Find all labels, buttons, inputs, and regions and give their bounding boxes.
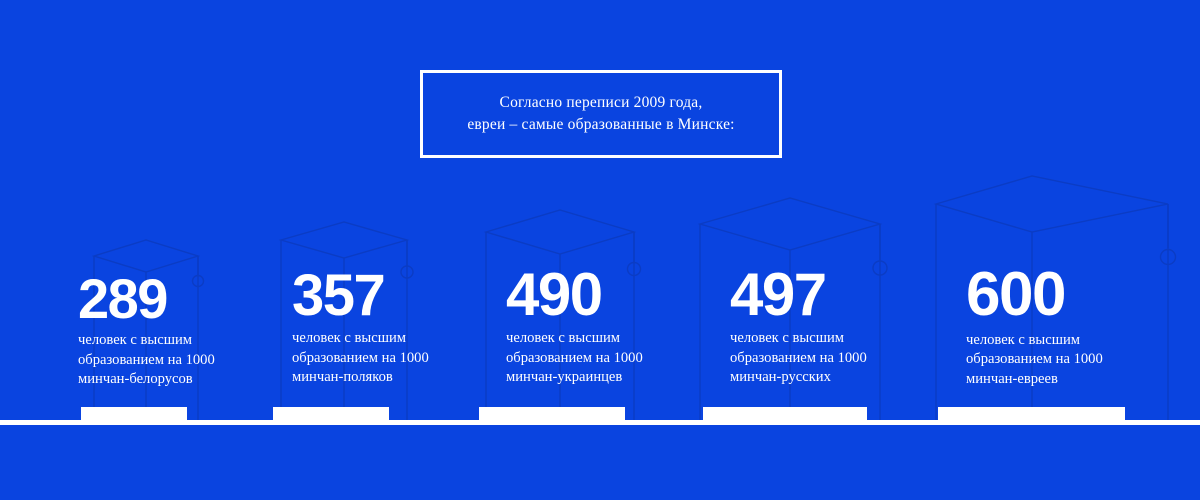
stat-caption-line-2: образованием на 1000 <box>730 349 867 369</box>
stat-caption-line-2: образованием на 1000 <box>78 351 215 371</box>
pedestal-5 <box>938 407 1125 420</box>
stat-value-2: 357 <box>292 268 429 323</box>
stat-column-3: 490 человек с высшим образованием на 100… <box>506 266 643 388</box>
stat-value-4: 497 <box>730 266 867 323</box>
stat-caption-line-3: минчан-украинцев <box>506 368 643 388</box>
stat-caption-5: человек с высшим образованием на 1000 ми… <box>966 331 1103 390</box>
stat-column-4: 497 человек с высшим образованием на 100… <box>730 266 867 388</box>
stat-caption-line-2: образованием на 1000 <box>292 349 429 369</box>
pedestal-1 <box>81 407 187 420</box>
stat-caption-line-2: образованием на 1000 <box>506 349 643 369</box>
stat-value-5: 600 <box>966 266 1103 325</box>
stat-caption-3: человек с высшим образованием на 1000 ми… <box>506 329 643 388</box>
stat-caption-line-1: человек с высшим <box>730 329 867 349</box>
pedestal-4 <box>703 407 867 420</box>
stat-caption-line-3: минчан-поляков <box>292 368 429 388</box>
stat-value-3: 490 <box>506 266 643 323</box>
ground-line <box>0 420 1200 425</box>
stat-caption-line-1: человек с высшим <box>966 331 1103 351</box>
infographic-canvas: Согласно переписи 2009 года, евреи – сам… <box>0 0 1200 500</box>
stat-caption-line-1: человек с высшим <box>78 331 215 351</box>
stat-caption-4: человек с высшим образованием на 1000 ми… <box>730 329 867 388</box>
stat-caption-line-3: минчан-белорусов <box>78 370 215 390</box>
pedestal-2 <box>273 407 389 420</box>
stat-caption-line-2: образованием на 1000 <box>966 350 1103 370</box>
stat-caption-line-1: человек с высшим <box>292 329 429 349</box>
title-line-2: евреи – самые образованные в Минске: <box>467 114 734 136</box>
stat-value-1: 289 <box>78 272 215 325</box>
stat-caption-line-3: минчан-русских <box>730 368 867 388</box>
stat-caption-line-1: человек с высшим <box>506 329 643 349</box>
title-line-1: Согласно переписи 2009 года, <box>500 92 703 114</box>
stat-column-5: 600 человек с высшим образованием на 100… <box>966 266 1103 389</box>
stat-column-1: 289 человек с высшим образованием на 100… <box>78 272 215 390</box>
stat-caption-line-3: минчан-евреев <box>966 370 1103 390</box>
stat-caption-1: человек с высшим образованием на 1000 ми… <box>78 331 215 390</box>
stat-caption-2: человек с высшим образованием на 1000 ми… <box>292 329 429 388</box>
title-callout-box: Согласно переписи 2009 года, евреи – сам… <box>420 70 782 158</box>
pedestal-3 <box>479 407 625 420</box>
stat-column-2: 357 человек с высшим образованием на 100… <box>292 268 429 388</box>
